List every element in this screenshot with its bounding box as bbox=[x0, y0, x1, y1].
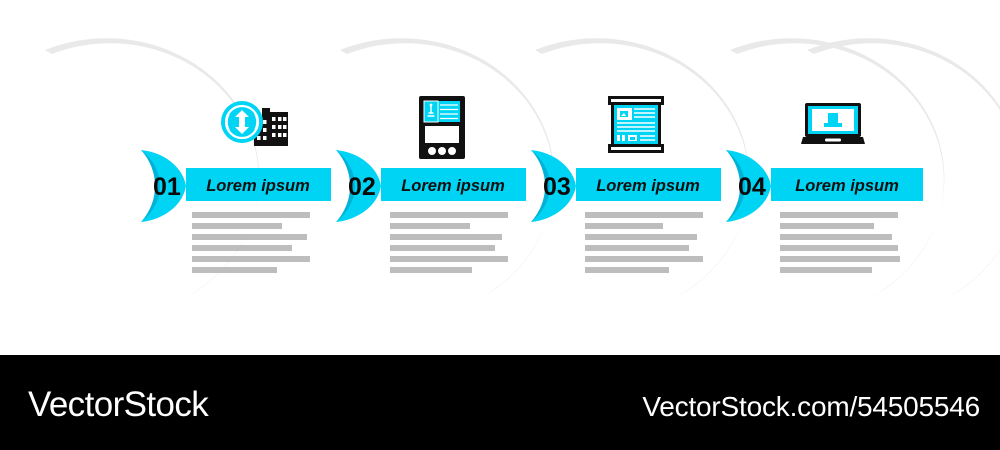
step-1-label: Lorem ipsum bbox=[206, 177, 310, 195]
step-3-label: Lorem ipsum bbox=[596, 177, 700, 195]
mobile-device-icon bbox=[419, 96, 465, 159]
step-4-body-lines bbox=[780, 212, 900, 273]
step-1[interactable]: 01 Lorem ipsum bbox=[141, 101, 331, 273]
step-3-number: 03 bbox=[543, 173, 571, 201]
step-3[interactable]: 03 Lorem ipsum bbox=[531, 96, 721, 273]
step-4-label: Lorem ipsum bbox=[795, 177, 899, 195]
vectorstock-logo: VectorStock bbox=[28, 385, 208, 425]
step-4-number: 04 bbox=[738, 173, 766, 201]
step-4[interactable]: 04 Lorem ipsum bbox=[726, 103, 923, 273]
timeline-diagram: 01 Lorem ipsum bbox=[0, 0, 1000, 355]
step-1-body-lines bbox=[192, 212, 310, 273]
step-2-label: Lorem ipsum bbox=[401, 177, 505, 195]
coin-money-city-icon bbox=[221, 101, 288, 146]
step-2-number: 02 bbox=[348, 173, 376, 201]
laptop-graduation-icon bbox=[801, 103, 865, 144]
vectorstock-url: VectorStock.com/54505546 bbox=[642, 391, 980, 423]
step-2-body-lines bbox=[390, 212, 508, 273]
infographic-canvas: 01 Lorem ipsum bbox=[0, 0, 1000, 355]
vectorstock-watermark-bar: VectorStock VectorStock.com/54505546 bbox=[0, 355, 1000, 450]
step-1-number: 01 bbox=[153, 173, 181, 201]
step-3-body-lines bbox=[585, 212, 703, 273]
step-2[interactable]: 02 Lorem ipsum bbox=[336, 96, 526, 273]
newspaper-scroll-icon bbox=[608, 96, 664, 153]
